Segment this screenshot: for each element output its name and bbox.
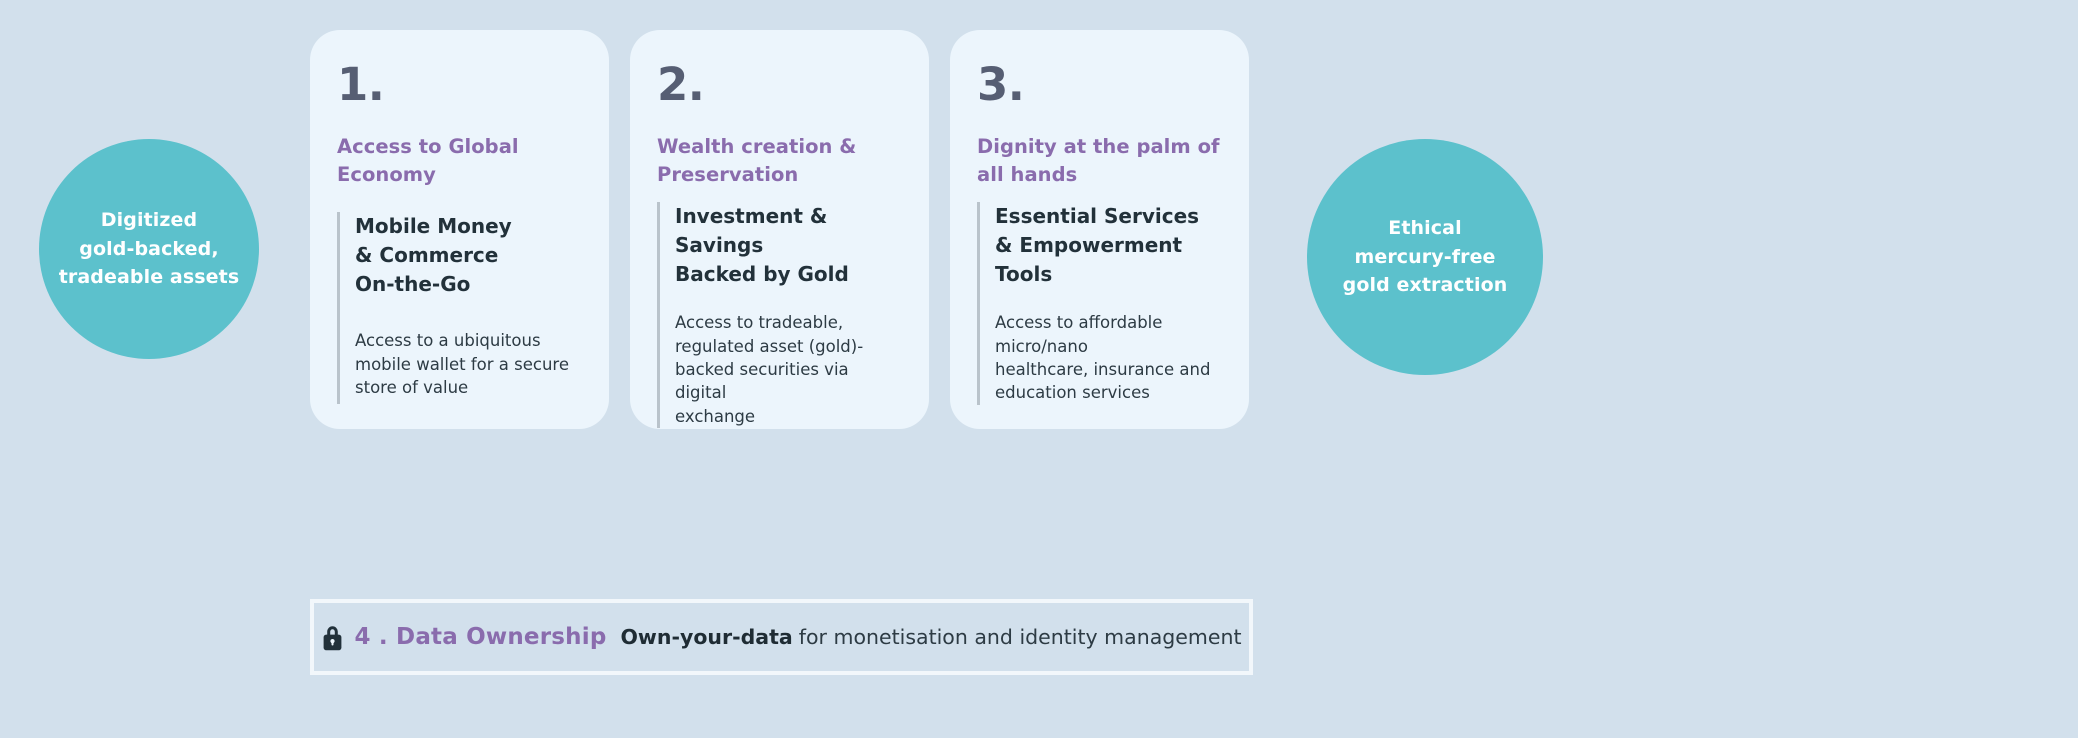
pillar-card-2[interactable]: 2. Wealth creation & Preservation Invest… <box>630 30 929 429</box>
data-ownership-banner[interactable]: 4 . Data Ownership Own-your-data for mon… <box>310 599 1253 675</box>
card-2-number: 2. <box>657 62 902 107</box>
card-1-subtitle: Access to Global Economy <box>337 133 582 190</box>
banner-lead-text: Own-your-data <box>621 625 793 649</box>
left-circle-text: Digitized gold-backed, tradeable assets <box>59 206 240 293</box>
card-2-item-title: Investment & Savings Backed by Gold <box>675 202 902 290</box>
card-1-number: 1. <box>337 62 582 107</box>
right-circle-text: Ethical mercury-free gold extraction <box>1343 214 1508 301</box>
card-2-accent-rule <box>657 202 660 429</box>
banner-content: 4 . Data Ownership Own-your-data for mon… <box>321 624 1241 651</box>
card-1-body: Mobile Money & Commerce On-the-Go Access… <box>337 212 582 404</box>
card-2-body-inner: Investment & Savings Backed by Gold Acce… <box>675 202 902 429</box>
right-value-circle: Ethical mercury-free gold extraction <box>1307 139 1543 375</box>
card-1-item-title: Mobile Money & Commerce On-the-Go <box>355 212 582 300</box>
card-2-item-desc: Access to tradeable, regulated asset (go… <box>675 311 902 428</box>
card-2-body: Investment & Savings Backed by Gold Acce… <box>657 202 902 429</box>
pillar-cards-row: 1. Access to Global Economy Mobile Money… <box>310 30 1249 429</box>
pillar-card-3[interactable]: 3. Dignity at the palm of all hands Esse… <box>950 30 1249 429</box>
card-3-subtitle: Dignity at the palm of all hands <box>977 133 1222 190</box>
card-3-item-desc: Access to affordable micro/nano healthca… <box>995 311 1222 405</box>
card-3-number: 3. <box>977 62 1222 107</box>
banner-step-label: 4 . Data Ownership <box>354 624 606 650</box>
card-3-accent-rule <box>977 202 980 405</box>
card-1-item-desc: Access to a ubiquitous mobile wallet for… <box>355 329 582 399</box>
infographic-stage: Digitized gold-backed, tradeable assets … <box>0 0 2078 738</box>
card-3-body-inner: Essential Services & Empowerment Tools A… <box>995 202 1222 405</box>
pillar-card-1[interactable]: 1. Access to Global Economy Mobile Money… <box>310 30 609 429</box>
card-1-body-inner: Mobile Money & Commerce On-the-Go Access… <box>355 212 582 404</box>
left-value-circle: Digitized gold-backed, tradeable assets <box>39 139 259 359</box>
card-3-body: Essential Services & Empowerment Tools A… <box>977 202 1222 405</box>
card-1-accent-rule <box>337 212 340 404</box>
banner-rest-text: for monetisation and identity management <box>799 625 1242 649</box>
card-2-subtitle: Wealth creation & Preservation <box>657 133 902 190</box>
card-3-item-title: Essential Services & Empowerment Tools <box>995 202 1222 290</box>
lock-icon <box>321 624 344 651</box>
